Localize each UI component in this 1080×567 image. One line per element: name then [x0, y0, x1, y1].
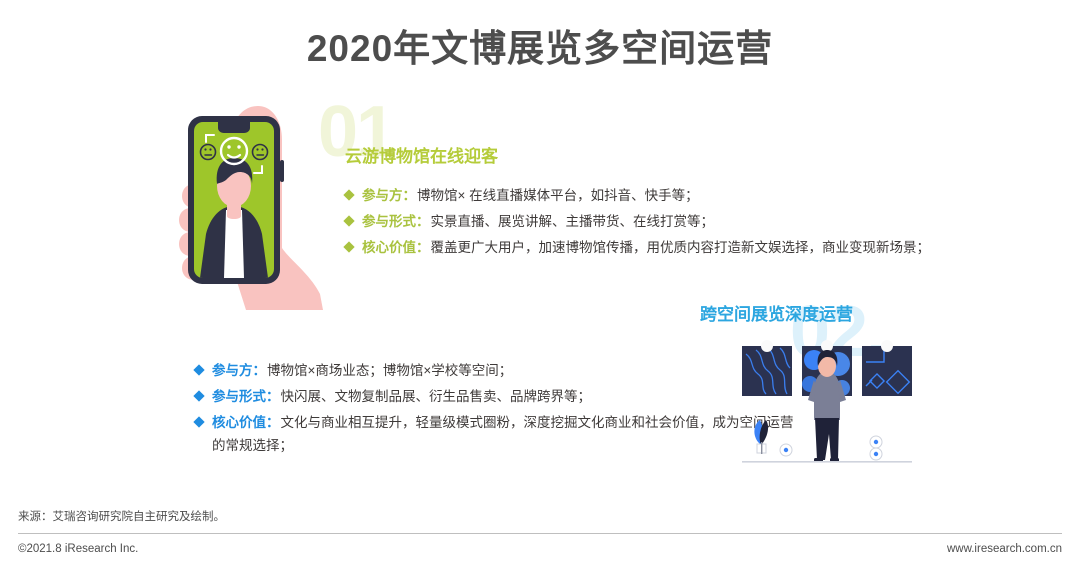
copyright-text: ©2021.8 iResearch Inc.	[18, 543, 138, 555]
bullet-item: 参与形式：实景直播、展览讲解、主播带货、在线打赏等；	[345, 210, 945, 233]
page-title: 2020年文博展览多空间运营	[0, 18, 1080, 72]
diamond-bullet-icon	[343, 215, 354, 226]
bullet-item: 核心价值：文化与商业相互提升，轻量级模式圈粉，深度挖掘文化商业和社会价值，成为空…	[195, 411, 795, 457]
bullet-text: 博物馆×商场业态；博物馆×学校等空间；	[267, 363, 512, 378]
bullet-item: 参与方：博物馆× 在线直播媒体平台，如抖音、快手等；	[345, 184, 945, 207]
bullet-text: 博物馆× 在线直播媒体平台，如抖音、快手等；	[417, 188, 699, 203]
gallery-viewer-illustration	[738, 338, 918, 483]
bullet-text: 文化与商业相互提升，轻量级模式圈粉，深度挖掘文化商业和社会价值，成为空间运营的常…	[212, 415, 794, 453]
source-note: 来源：艾瑞咨询研究院自主研究及绘制。	[18, 508, 225, 524]
footer-divider	[18, 533, 1062, 534]
diamond-bullet-icon	[343, 189, 354, 200]
slide-canvas: 2020年文博展览多空间运营 01 云游博物馆在线迎客 参与方：博物馆× 在线直…	[0, 0, 1080, 567]
bullet-label: 核心价值：	[212, 415, 280, 430]
hand-holding-phone-illustration	[160, 98, 335, 318]
bullet-label: 参与形式：	[212, 389, 280, 404]
bullet-label: 参与方：	[362, 188, 416, 203]
bullet-text: 覆盖更广大用户，加速博物馆传播，用优质内容打造新文娱选择，商业变现新场景；	[431, 240, 931, 255]
bullet-text: 实景直播、展览讲解、主播带货、在线打赏等；	[431, 214, 715, 229]
diamond-bullet-icon	[193, 416, 204, 427]
bullet-label: 参与形式：	[362, 214, 430, 229]
bullet-item: 核心价值：覆盖更广大用户，加速博物馆传播，用优质内容打造新文娱选择，商业变现新场…	[345, 236, 945, 259]
bullet-item: 参与形式：快闪展、文物复制品展、衍生品售卖、品牌跨界等；	[195, 385, 795, 408]
diamond-bullet-icon	[343, 241, 354, 252]
bullet-label: 核心价值：	[362, 240, 430, 255]
diamond-bullet-icon	[193, 390, 204, 401]
website-url: www.iresearch.com.cn	[947, 543, 1062, 555]
diamond-bullet-icon	[193, 364, 204, 375]
section-02-bullet-list: 参与方：博物馆×商场业态；博物馆×学校等空间； 参与形式：快闪展、文物复制品展、…	[195, 359, 795, 460]
bullet-item: 参与方：博物馆×商场业态；博物馆×学校等空间；	[195, 359, 795, 382]
section-01-heading: 云游博物馆在线迎客	[345, 142, 498, 167]
bullet-text: 快闪展、文物复制品展、衍生品售卖、品牌跨界等；	[281, 389, 592, 404]
section-01-bullet-list: 参与方：博物馆× 在线直播媒体平台，如抖音、快手等； 参与形式：实景直播、展览讲…	[345, 184, 945, 262]
section-02-heading: 跨空间展览深度运营	[700, 300, 853, 325]
bullet-label: 参与方：	[212, 363, 266, 378]
